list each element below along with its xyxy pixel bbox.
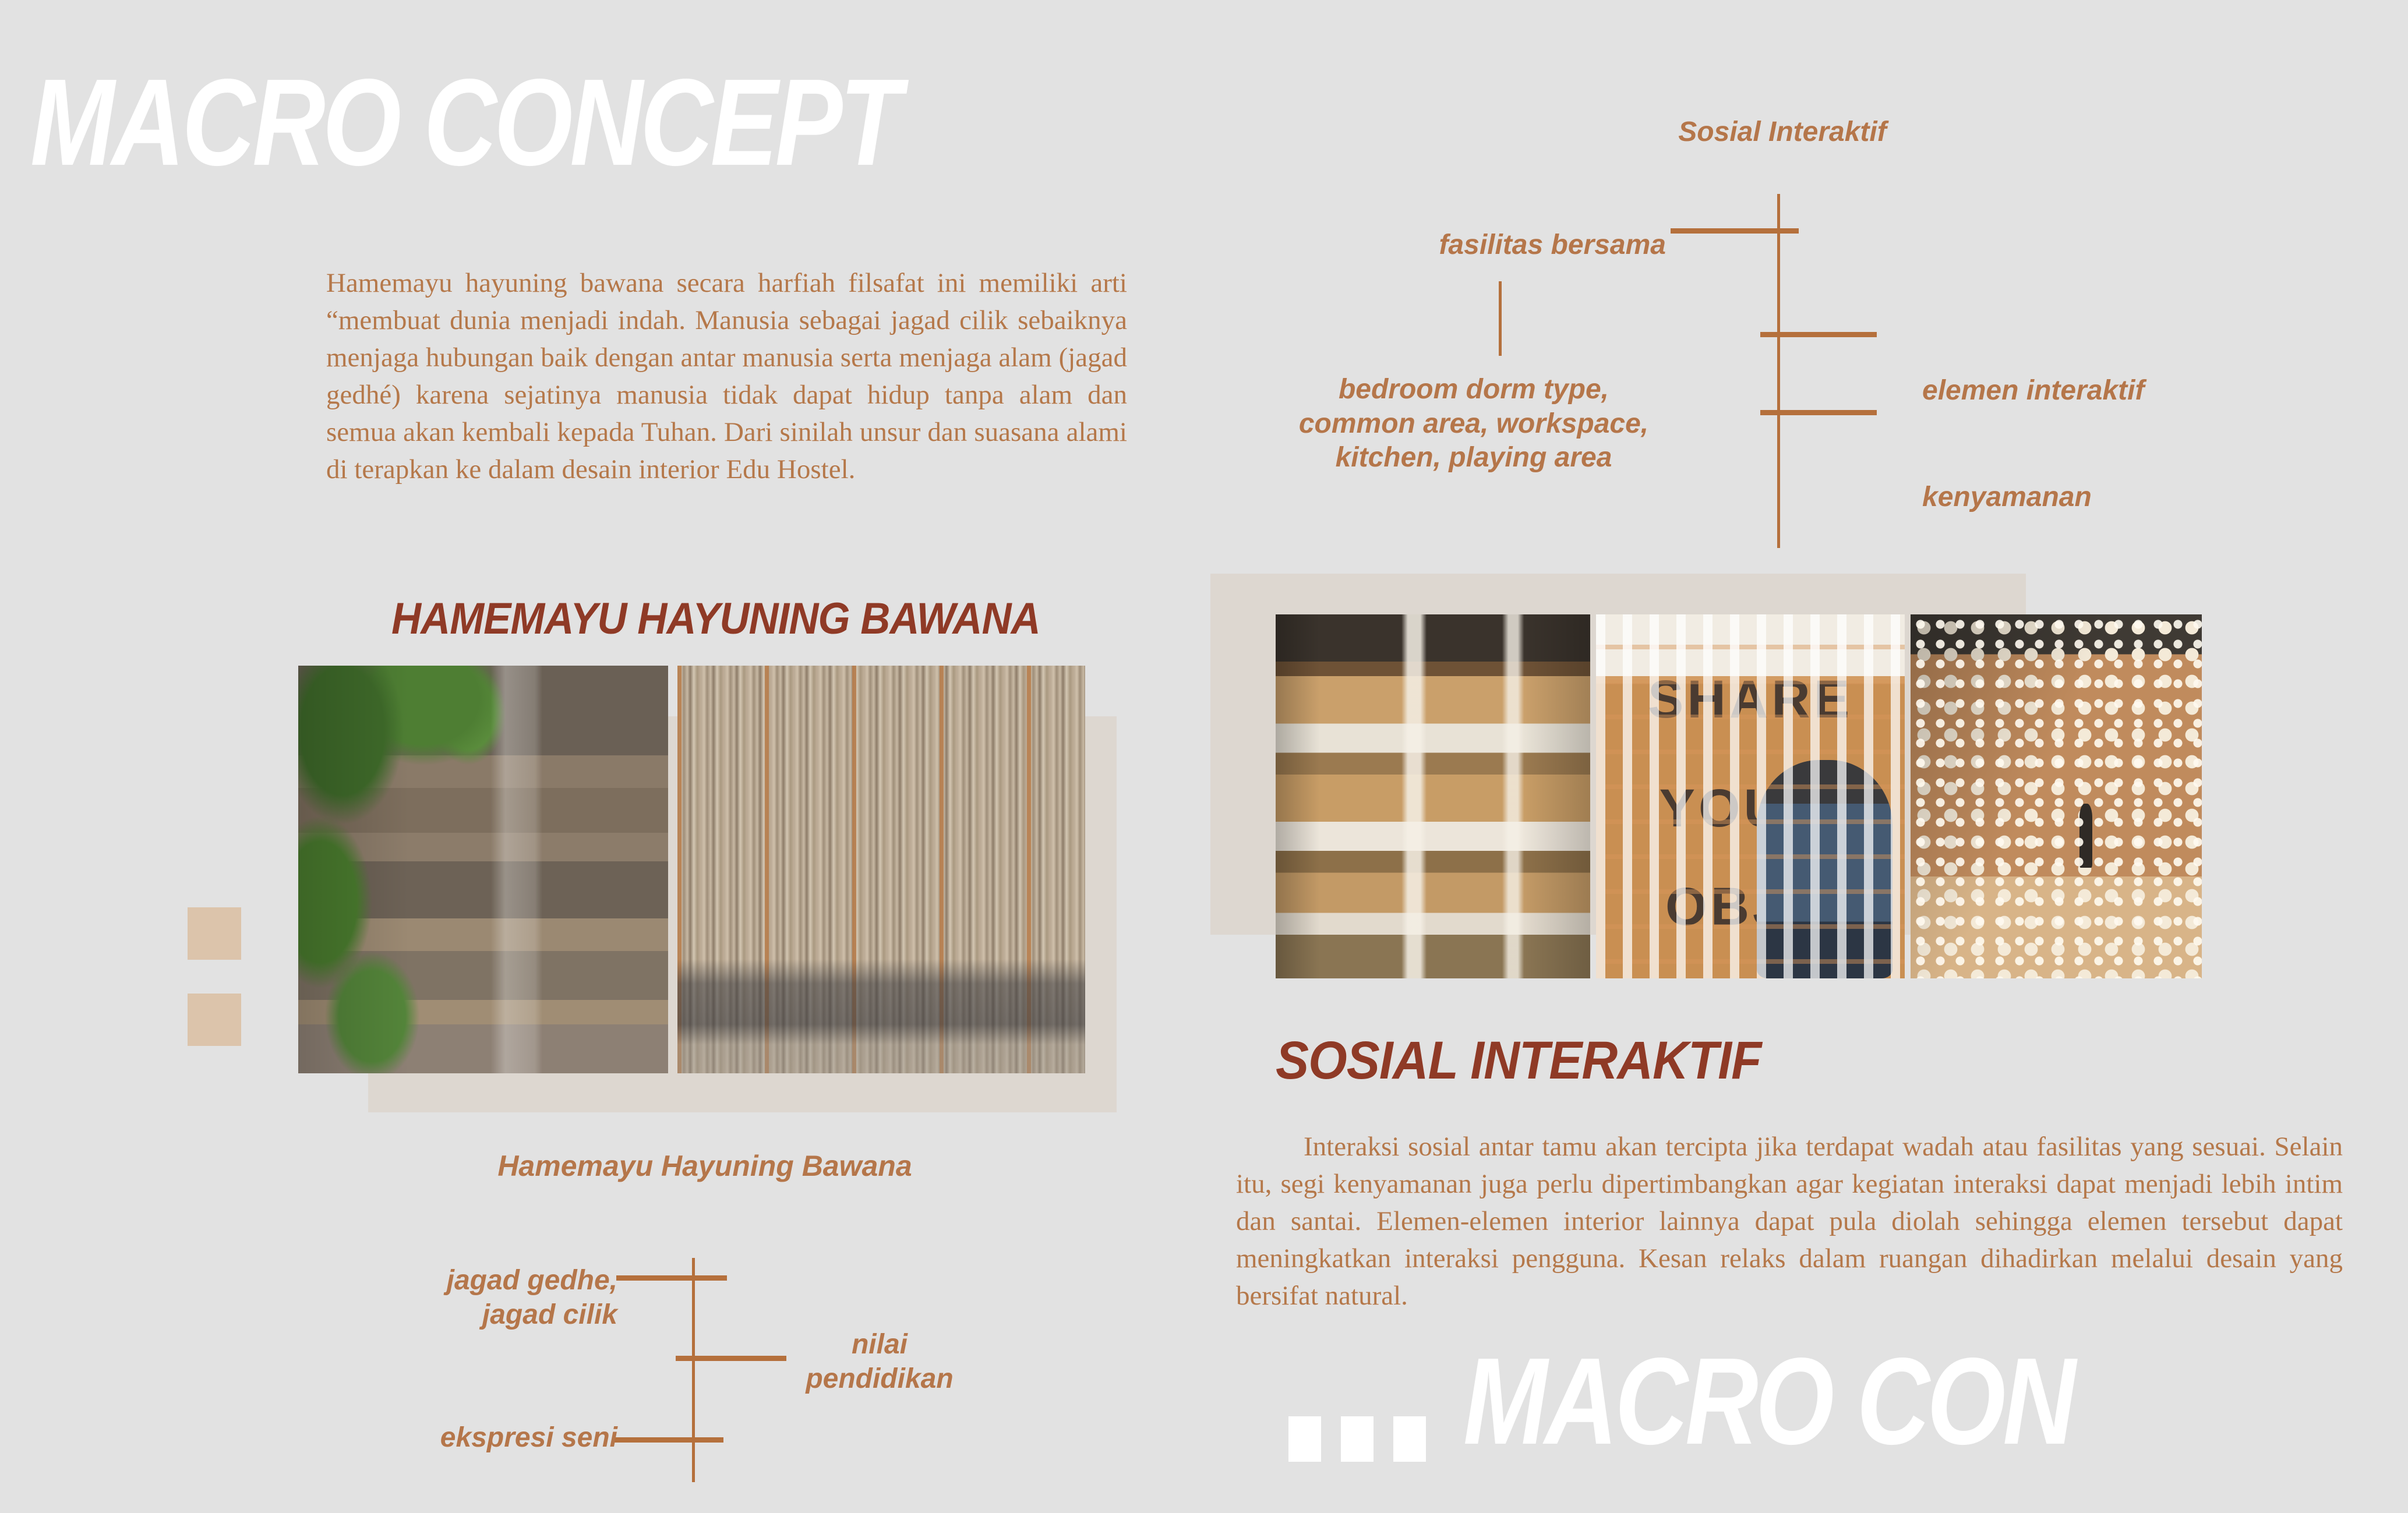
bottom-title-watermark: MACRO CON <box>1463 1339 2073 1463</box>
hamemayu-caption: Hamemayu Hayuning Bawana <box>443 1148 967 1184</box>
dot-square-2 <box>1341 1416 1374 1462</box>
diagram-label-kenyamanan: kenyamanan <box>1922 480 2272 515</box>
decorative-dots <box>1288 1416 1426 1462</box>
wall-word-obj: OBJ <box>1596 876 1905 938</box>
dot-square-3 <box>1393 1416 1426 1462</box>
image-share-your-object-wall: SHARE YOU OBJ <box>1596 614 1905 978</box>
hamemayu-paragraph: Hamemayu hayuning bawana secara harfiah … <box>326 265 1127 488</box>
page-title: MACRO CONCEPT <box>30 61 899 184</box>
dot-square-1 <box>1288 1416 1321 1462</box>
diagram-label-nilai-pendidikan: nilai pendidikan <box>757 1328 1002 1396</box>
diagram-label-fasilitas-bersama: fasilitas bersama <box>1328 228 1666 263</box>
tan-swatch-top <box>188 907 241 960</box>
image-library-bookshelf-lounge <box>677 666 1085 1073</box>
walking-figure <box>2079 804 2092 868</box>
sosial-interaktif-heading: SOSIAL INTERAKTIF <box>1276 1034 1761 1087</box>
wall-word-share: SHARE <box>1596 669 1905 730</box>
wall-word-you: YOU <box>1596 778 1905 839</box>
diagram-left-tick-1 <box>616 1275 727 1281</box>
tan-swatch-bottom <box>188 994 241 1046</box>
image-dorm-bunk-beds <box>1276 614 1590 978</box>
image-cafe-workshop-with-plants <box>298 666 668 1073</box>
diagram-right-tick-elemen <box>1760 332 1877 337</box>
diagram-left-tick-3 <box>613 1437 723 1443</box>
diagram-right-tick-kenyamanan <box>1760 410 1877 415</box>
diagram-label-ekspresi-seni: ekspresi seni <box>256 1421 617 1455</box>
diagram-label-room-facilities: bedroom dorm type, common area, workspac… <box>1241 373 1707 475</box>
diagram-left-spine <box>692 1258 695 1482</box>
diagram-right-tick-fasilitas <box>1671 228 1799 234</box>
sosial-interaktif-paragraph: Interaksi sosial antar tamu akan tercipt… <box>1236 1129 2343 1315</box>
person-pinning-cards <box>1757 760 1892 978</box>
image-perforated-screen-corridor <box>1911 614 2202 978</box>
slide-canvas: MACRO CONCEPT MACRO CON Hamemayu hayunin… <box>0 0 2408 1513</box>
diagram-right-subspine <box>1499 281 1502 356</box>
hamemayu-heading: HAMEMAYU HAYUNING BAWANA <box>391 597 1040 641</box>
diagram-right-spine <box>1777 194 1780 548</box>
diagram-root-sosial-interaktif: Sosial Interaktif <box>1619 115 1946 150</box>
diagram-label-jagad-gedhe-cilik: jagad gedhe, jagad cilik <box>280 1264 617 1332</box>
diagram-label-elemen-interaktif: elemen interaktif <box>1922 374 2295 408</box>
